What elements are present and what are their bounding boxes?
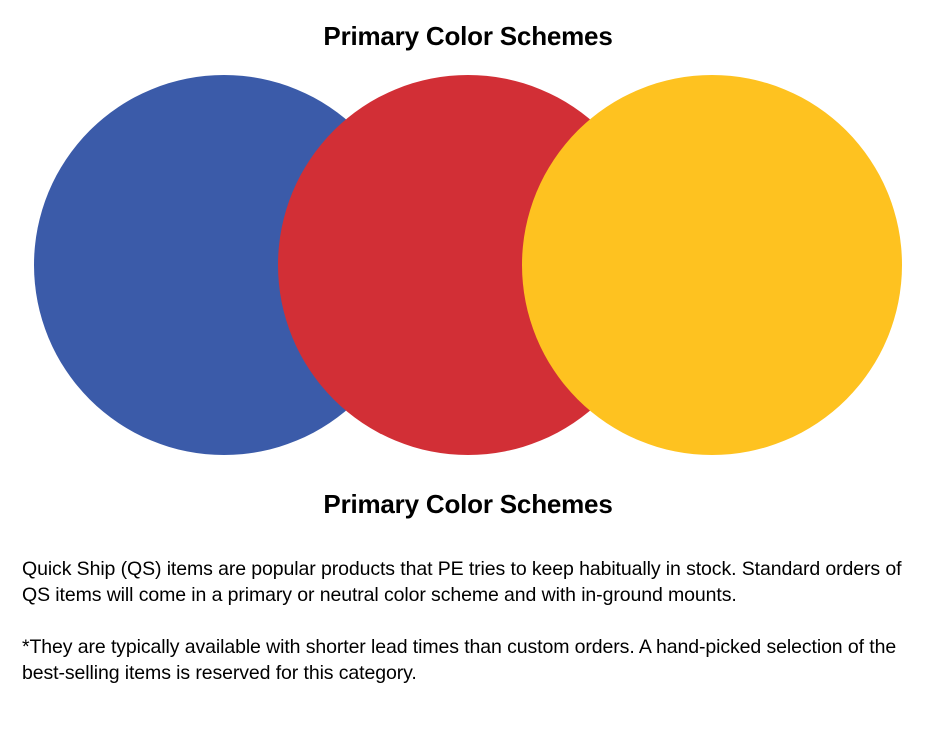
color-scheme-diagram <box>0 0 936 480</box>
paragraph-lead-times-note: *They are typically available with short… <box>22 634 914 686</box>
slide-canvas: Primary Color Schemes Primary Color Sche… <box>0 0 936 736</box>
yellow-circle <box>522 75 902 455</box>
paragraph-quick-ship: Quick Ship (QS) items are popular produc… <box>22 556 914 608</box>
body-copy: Quick Ship (QS) items are popular produc… <box>22 556 914 686</box>
page-title-bottom: Primary Color Schemes <box>0 490 936 519</box>
